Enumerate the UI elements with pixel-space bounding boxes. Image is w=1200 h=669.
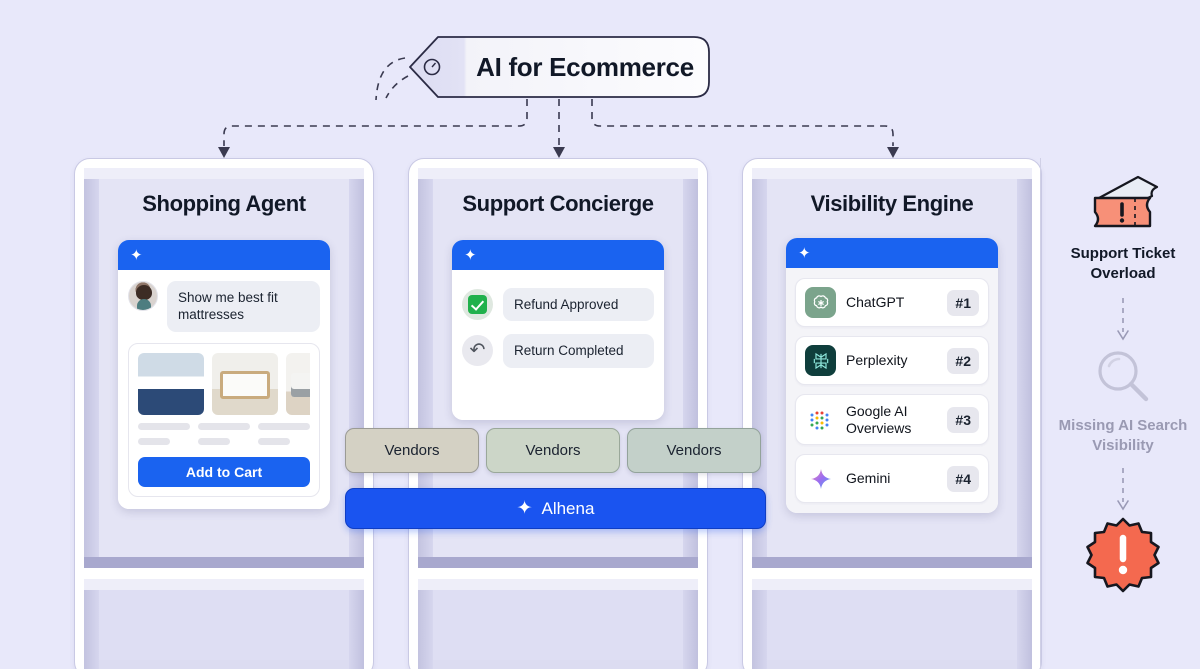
visibility-rank: #3: [947, 407, 979, 433]
card-body: ChatGPT #1 Perplexity #2: [786, 268, 998, 513]
card-header: ✦: [118, 240, 330, 270]
visibility-row[interactable]: ChatGPT #1: [795, 278, 989, 327]
bevel-right: [349, 579, 364, 669]
diagram-canvas: AI for Ecommerce Shopping Agent ✦ Show m…: [0, 0, 1200, 669]
visibility-rank: #4: [947, 466, 979, 492]
visibility-name: Perplexity: [846, 352, 937, 369]
rail-caption: Missing AI Search Visibility: [1053, 416, 1193, 455]
sparkle-icon: ✦: [130, 248, 143, 263]
panel-shopping-agent[interactable]: Shopping Agent ✦ Show me best fit mattre…: [74, 158, 374, 669]
gemini-logo: [805, 463, 836, 494]
bevel-bottom: [418, 557, 698, 568]
bevel-bottom: [84, 557, 364, 568]
vendors-pill-2[interactable]: Vendors: [486, 428, 620, 473]
ticket-alert-icon: [1086, 174, 1160, 236]
product-placeholder-lines: [138, 415, 310, 445]
panel-face-lower: [433, 590, 683, 660]
panel-lower-shelf: [752, 579, 1032, 669]
shopping-agent-card: ✦ Show me best fit mattresses: [118, 240, 330, 509]
alhena-bar[interactable]: ✦ Alhena: [345, 488, 766, 529]
panel-face-lower: [767, 590, 1017, 660]
problem-rail: Support Ticket Overload Missing AI Searc…: [1053, 158, 1193, 658]
bevel-right: [1017, 168, 1032, 568]
undo-arrow-icon: ↶: [462, 335, 493, 366]
rail-arrow-1: [1053, 298, 1193, 342]
bevel-left: [418, 579, 433, 669]
panel-title: Visibility Engine: [752, 191, 1032, 217]
product-thumbnails: [138, 353, 310, 415]
status-row: Refund Approved: [462, 288, 654, 321]
vendors-pill-3[interactable]: Vendors: [627, 428, 761, 473]
bevel-top: [84, 168, 364, 179]
rail-item-missing-visibility: Missing AI Search Visibility: [1053, 346, 1193, 455]
chat-message-row: Show me best fit mattresses: [128, 281, 320, 332]
bevel-right: [683, 579, 698, 669]
visibility-name: Gemini: [846, 470, 937, 487]
panel-inner-frame: Shopping Agent ✦ Show me best fit mattre…: [84, 168, 364, 568]
bevel-top: [84, 579, 364, 590]
rail-caption: Support Ticket Overload: [1053, 244, 1193, 283]
support-concierge-card: ✦ Refund Approved ↶ Return Completed: [452, 240, 664, 420]
card-header: ✦: [452, 240, 664, 270]
visibility-row[interactable]: Gemini #4: [795, 454, 989, 503]
rail-arrow-2: [1053, 468, 1193, 512]
bedroom-thumb: [286, 353, 310, 415]
visibility-row[interactable]: Google AI Overviews #3: [795, 394, 989, 445]
bevel-top: [418, 168, 698, 179]
status-label: Refund Approved: [503, 288, 654, 321]
bevel-top: [752, 168, 1032, 179]
bevel-top: [752, 579, 1032, 590]
visibility-name: Google AI Overviews: [846, 403, 937, 436]
user-avatar: [128, 281, 158, 311]
title-label: AI for Ecommerce: [466, 36, 710, 98]
chat-message-text: Show me best fit mattresses: [167, 281, 320, 332]
sparkle-icon: ✦: [517, 499, 533, 518]
visibility-row[interactable]: Perplexity #2: [795, 336, 989, 385]
panel-gap: [752, 568, 1032, 579]
card-body: Refund Approved ↶ Return Completed: [452, 270, 664, 420]
google-ai-logo: [805, 404, 836, 435]
alert-burst-icon: [1084, 516, 1162, 594]
sparkle-icon: ✦: [464, 248, 477, 263]
bevel-top: [418, 579, 698, 590]
bevel-left: [84, 168, 99, 568]
visibility-engine-card: ✦ ChatGPT #1: [786, 238, 998, 513]
visibility-name: ChatGPT: [846, 294, 937, 311]
green-check-icon: [462, 289, 493, 320]
panel-visibility-engine[interactable]: Visibility Engine ✦ ChatGPT #: [742, 158, 1042, 669]
mattress-thumb: [138, 353, 204, 415]
panel-support-concierge[interactable]: Support Concierge ✦ Refund Approved ↶ Re…: [408, 158, 708, 669]
panel-face-lower: [99, 590, 349, 660]
add-to-cart-button[interactable]: Add to Cart: [138, 457, 310, 487]
bevel-bottom: [752, 557, 1032, 568]
visibility-rank: #2: [947, 348, 979, 374]
panel-lower-shelf: [418, 579, 698, 669]
panel-inner-frame: Visibility Engine ✦ ChatGPT #: [752, 168, 1032, 568]
chatgpt-logo: [805, 287, 836, 318]
title-tag: AI for Ecommerce: [408, 36, 710, 98]
card-body: Show me best fit mattresses: [118, 270, 330, 509]
product-card: Add to Cart: [128, 343, 320, 497]
status-row: ↶ Return Completed: [462, 334, 654, 367]
rail-divider: [1040, 158, 1041, 669]
card-header: ✦: [786, 238, 998, 268]
bevel-left: [84, 579, 99, 669]
bevel-left: [752, 579, 767, 669]
perplexity-logo: [805, 345, 836, 376]
panel-gap: [418, 568, 698, 579]
panel-lower-shelf: [84, 579, 364, 669]
vendors-pill-1[interactable]: Vendors: [345, 428, 479, 473]
bevel-right: [1017, 579, 1032, 669]
alhena-label: Alhena: [541, 499, 594, 519]
status-label: Return Completed: [503, 334, 654, 367]
rail-item-support-ticket: Support Ticket Overload: [1053, 174, 1193, 283]
bed-thumb: [212, 353, 278, 415]
panel-title: Shopping Agent: [84, 191, 364, 217]
panel-title: Support Concierge: [418, 191, 698, 217]
magnifier-icon: [1092, 346, 1154, 408]
sparkle-icon: ✦: [798, 246, 811, 261]
visibility-rank: #1: [947, 290, 979, 316]
panel-gap: [84, 568, 364, 579]
rail-item-alert: [1053, 516, 1193, 594]
